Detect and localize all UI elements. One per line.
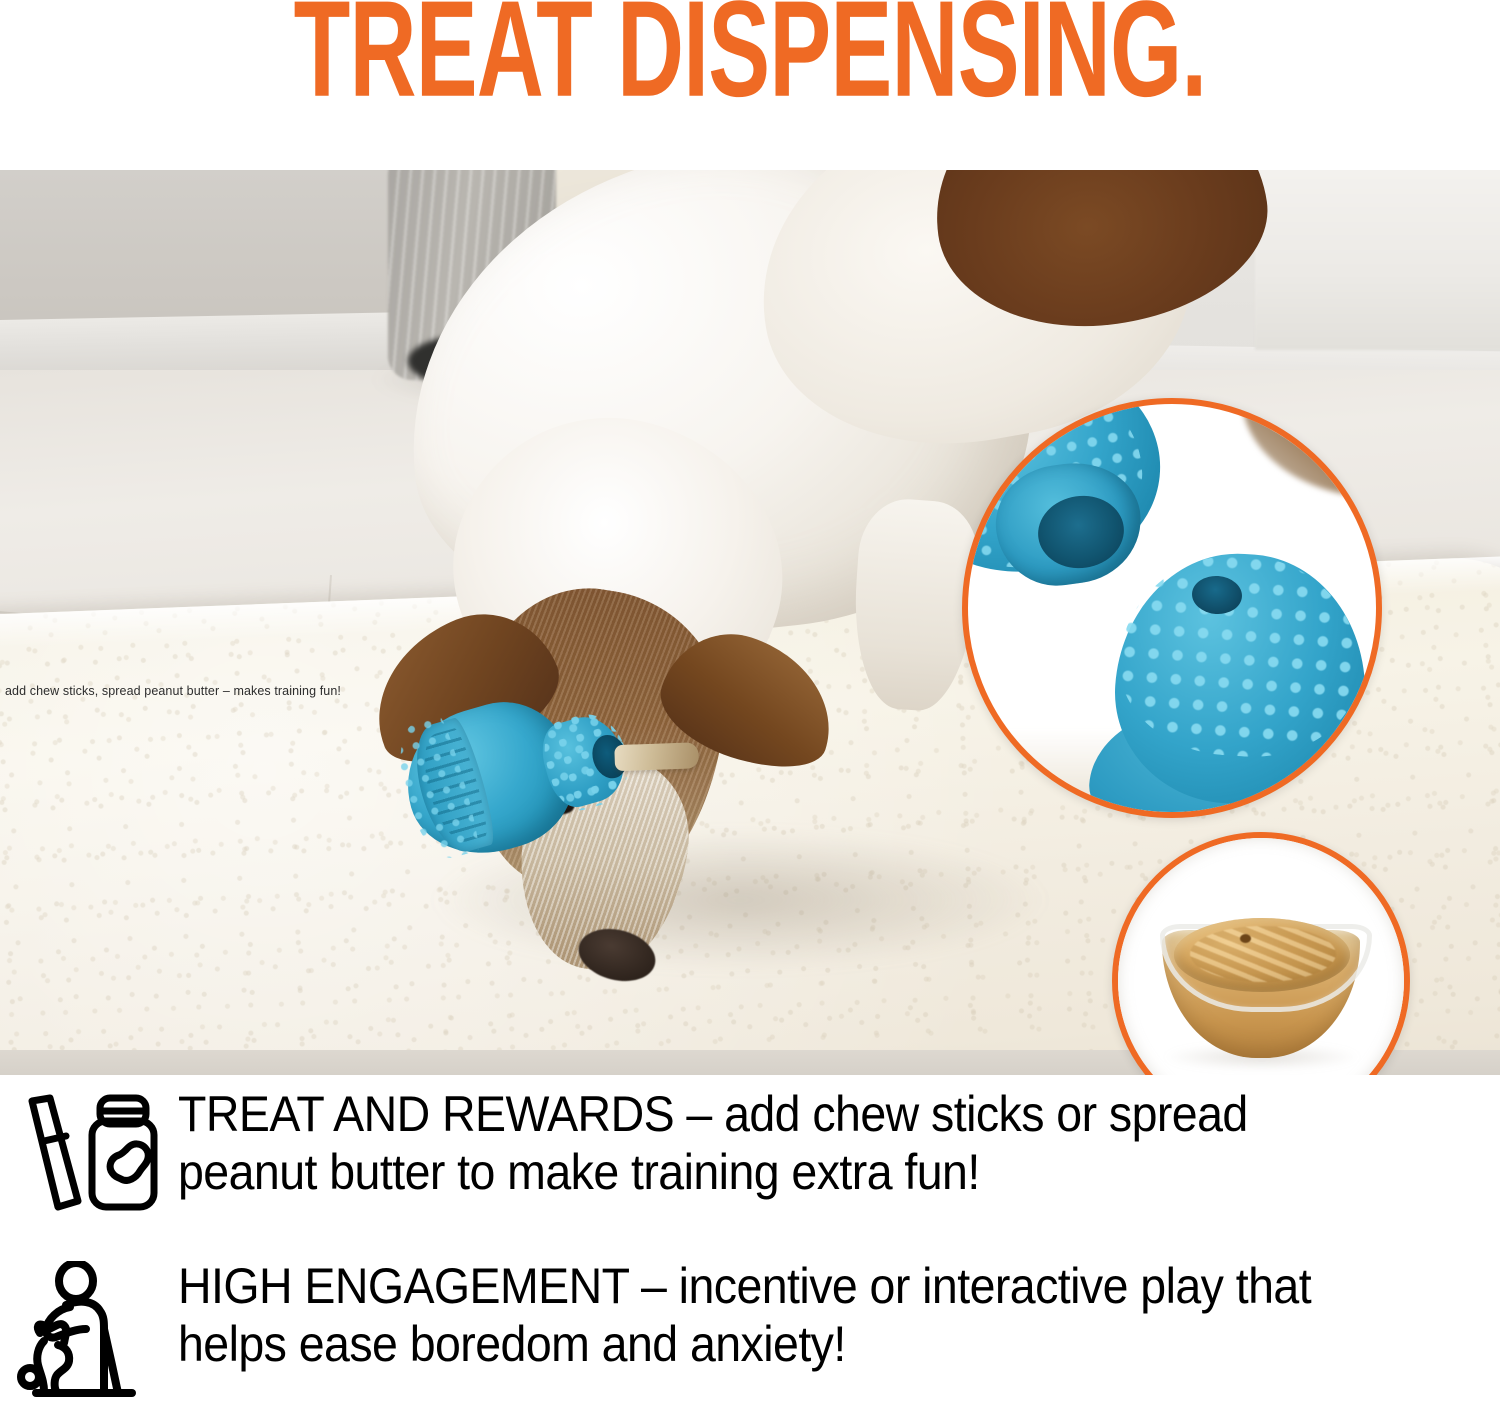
photo-caption: add chew sticks, spread peanut butter – … (5, 684, 341, 698)
feature-text-high-engagement: HIGH ENGAGEMENT – incentive or interacti… (178, 1257, 1407, 1373)
page-title: TREAT DISPENSING. (150, 0, 1350, 117)
inset-fur-top-right (1242, 398, 1382, 498)
hero-photo: add chew sticks, spread peanut butter – … (0, 170, 1500, 1075)
chew-stick-and-peanut-butter-jar-icon (0, 1085, 178, 1217)
feature-row-high-engagement: HIGH ENGAGEMENT – incentive or interacti… (0, 1257, 1500, 1407)
feature-list: TREAT AND REWARDS – add chew sticks or s… (0, 1075, 1500, 1406)
feature-row-treat-and-rewards: TREAT AND REWARDS – add chew sticks or s… (0, 1085, 1500, 1245)
headline-bar: TREAT DISPENSING. (0, 0, 1500, 170)
inset-peanut-butter (1112, 832, 1410, 1075)
inset-toy-closeup (962, 398, 1382, 818)
feature-text-treat-and-rewards: TREAT AND REWARDS – add chew sticks or s… (178, 1085, 1407, 1201)
chew-stick (614, 742, 699, 771)
person-with-dog-icon (0, 1257, 178, 1401)
